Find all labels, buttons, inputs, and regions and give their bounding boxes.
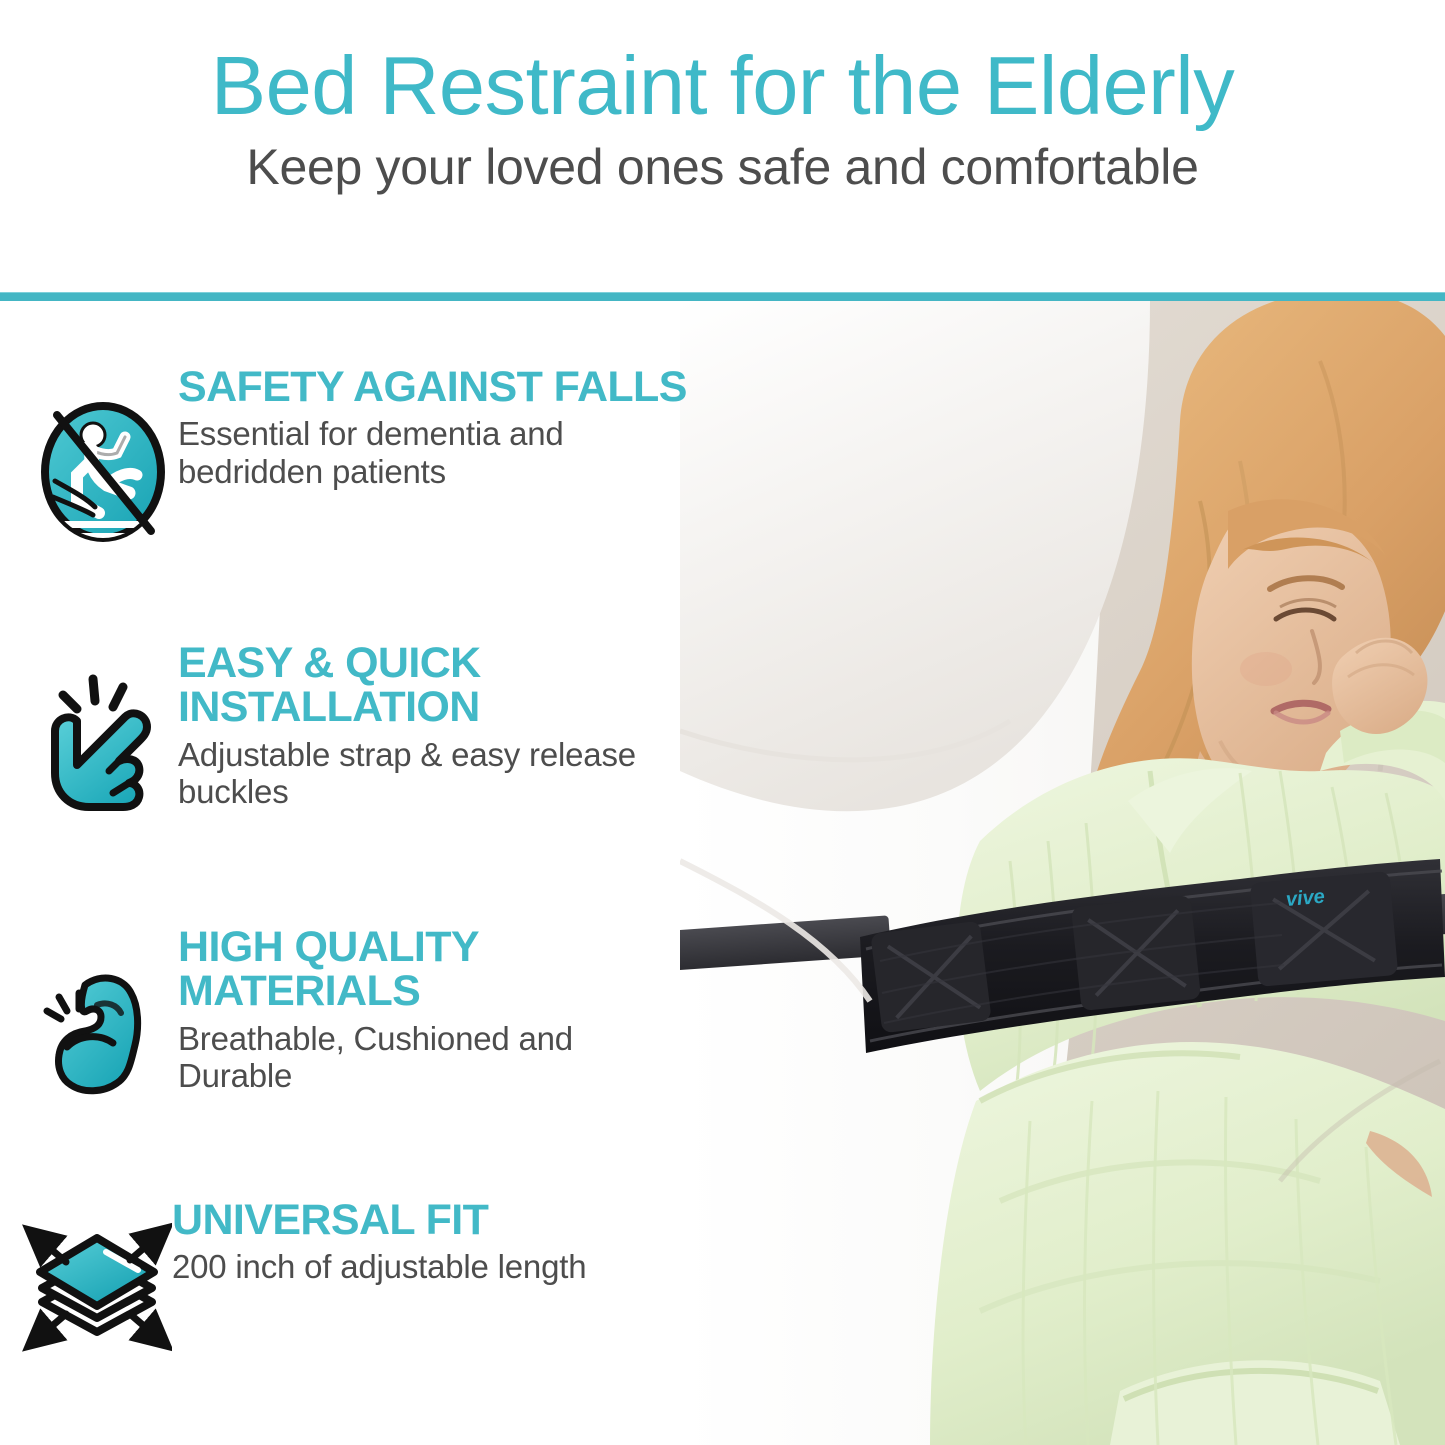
feature-text-high-quality-materials: HIGH QUALITY MATERIALS Breathable, Cushi… [178, 923, 688, 1095]
tap-hand-icon [28, 639, 178, 811]
brand-logo: vive [1285, 886, 1326, 911]
feature-description: Essential for dementia and bedridden pat… [178, 409, 688, 490]
tap-hand-icon-glyph [33, 661, 173, 811]
flexed-bicep-icon [28, 923, 178, 1103]
feature-text-universal-fit: UNIVERSAL FIT 200 inch of adjustable len… [172, 1196, 586, 1286]
feature-description: Adjustable strap & easy release buckles [178, 730, 688, 811]
feature-title: UNIVERSAL FIT [172, 1198, 586, 1242]
feature-item-easy-quick-installation: EASY & QUICK INSTALLATION Adjustable str… [28, 639, 688, 811]
expanding-layers-icon [22, 1196, 172, 1352]
product-photo-illustration: vive [680, 301, 1445, 1445]
feature-item-safety-against-falls: SAFETY AGAINST FALLS Essential for demen… [28, 363, 688, 547]
flexed-bicep-icon-glyph [33, 963, 173, 1103]
feature-item-universal-fit: UNIVERSAL FIT 200 inch of adjustable len… [22, 1196, 682, 1352]
feature-title: HIGH QUALITY MATERIALS [178, 925, 688, 1014]
no-fall-icon-glyph [33, 397, 173, 547]
feature-title: SAFETY AGAINST FALLS [178, 365, 688, 409]
header: Bed Restraint for the Elderly Keep your … [0, 0, 1445, 292]
page-title: Bed Restraint for the Elderly [0, 0, 1445, 129]
feature-description: Breathable, Cushioned and Durable [178, 1014, 688, 1095]
feature-title: EASY & QUICK INSTALLATION [178, 641, 688, 730]
feature-description: 200 inch of adjustable length [172, 1242, 586, 1286]
header-divider [0, 292, 1445, 301]
feature-text-easy-quick-installation: EASY & QUICK INSTALLATION Adjustable str… [178, 639, 688, 811]
product-photo: vive [680, 301, 1445, 1445]
page-subtitle: Keep your loved ones safe and comfortabl… [0, 129, 1445, 194]
feature-text-safety-against-falls: SAFETY AGAINST FALLS Essential for demen… [178, 363, 688, 491]
feature-item-high-quality-materials: HIGH QUALITY MATERIALS Breathable, Cushi… [28, 923, 688, 1103]
feature-list: SAFETY AGAINST FALLS Essential for demen… [0, 301, 690, 1445]
belt-pad-right: vive [1250, 871, 1399, 987]
infographic-page: Bed Restraint for the Elderly Keep your … [0, 0, 1445, 1445]
expanding-layers-icon-glyph [22, 1202, 172, 1352]
no-fall-icon [28, 363, 178, 547]
svg-text:vive: vive [1285, 886, 1326, 911]
belt-pad-left [870, 921, 991, 1034]
